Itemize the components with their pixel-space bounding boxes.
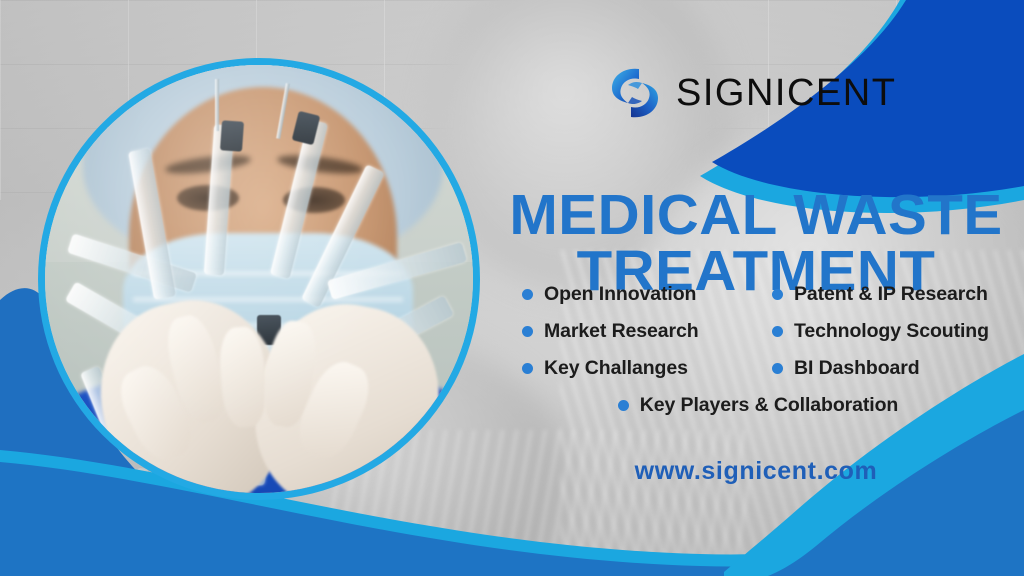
service-label: Key Challanges — [544, 357, 688, 380]
service-item-key-challanges[interactable]: Key Challanges — [506, 357, 758, 380]
poster-canvas: SIGNICENT MEDICAL WASTE TREATMENT Open I… — [0, 0, 1024, 576]
bullet-dot-icon — [522, 326, 533, 337]
bullet-dot-icon — [618, 400, 629, 411]
service-label: Key Players & Collaboration — [640, 394, 898, 417]
services-row-4: Key Players & Collaboration — [506, 394, 1010, 417]
bullet-dot-icon — [522, 363, 533, 374]
services-row-1: Open Innovation Patent & IP Research — [506, 283, 1010, 306]
services-row-3: Key Challanges BI Dashboard — [506, 357, 1010, 380]
service-label: BI Dashboard — [794, 357, 920, 380]
services-row-2: Market Research Technology Scouting — [506, 320, 1010, 343]
service-item-patent-ip-research[interactable]: Patent & IP Research — [758, 283, 1010, 306]
services-list: Open Innovation Patent & IP Research Mar… — [506, 283, 1010, 431]
service-item-open-innovation[interactable]: Open Innovation — [506, 283, 758, 306]
bullet-dot-icon — [522, 289, 533, 300]
service-label: Technology Scouting — [794, 320, 989, 343]
brand-logo[interactable]: SIGNICENT — [608, 66, 896, 120]
title-line-1: MEDICAL WASTE — [509, 183, 1002, 247]
website-url[interactable]: www.signicent.com — [506, 457, 1006, 486]
service-label: Patent & IP Research — [794, 283, 988, 306]
brand-name: SIGNICENT — [676, 74, 896, 112]
service-label: Open Innovation — [544, 283, 696, 306]
bullet-dot-icon — [772, 363, 783, 374]
service-item-technology-scouting[interactable]: Technology Scouting — [758, 320, 1010, 343]
bullet-dot-icon — [772, 326, 783, 337]
bullet-dot-icon — [772, 289, 783, 300]
service-item-bi-dashboard[interactable]: BI Dashboard — [758, 357, 1010, 380]
signicent-s-logo-icon — [608, 66, 662, 120]
circular-photo-frame — [38, 58, 480, 500]
service-item-market-research[interactable]: Market Research — [506, 320, 758, 343]
photo-gloss-overlay — [45, 65, 473, 493]
technician-syringes-photo — [45, 65, 473, 493]
service-label: Market Research — [544, 320, 699, 343]
service-item-key-players-collaboration[interactable]: Key Players & Collaboration — [618, 394, 898, 417]
